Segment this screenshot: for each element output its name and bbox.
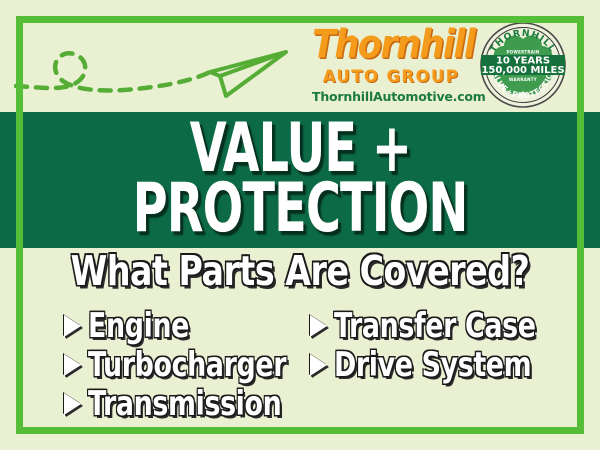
logo-subtitle: AUTO GROUP (312, 69, 470, 86)
covered-parts-list: Engine Turbocharger Transmission Transfe… (0, 306, 600, 424)
part-label: Transfer Case (334, 306, 536, 346)
triangle-bullet-icon (310, 354, 327, 376)
list-item: Transmission (64, 384, 294, 423)
header-region: Thornhill AUTO GROUP ThornhillAutomotive… (0, 0, 600, 112)
triangle-bullet-icon (64, 393, 81, 415)
triangle-bullet-icon (310, 315, 327, 337)
seal-micro-bottom-text: WARRANTY (509, 77, 537, 82)
triangle-bullet-icon (64, 315, 81, 337)
logo-wordmark: Thornhill (312, 26, 470, 65)
triangle-bullet-icon (64, 354, 81, 376)
thornhill-logo: Thornhill AUTO GROUP ThornhillAutomotive… (312, 26, 470, 103)
logo-website-url: ThornhillAutomotive.com (312, 91, 470, 104)
warranty-seal-badge-icon: THORNHILL VALUE+PROTECTION POWERTRAIN 10… (480, 22, 566, 108)
part-label: Engine (88, 306, 189, 346)
dashed-arrow-path-icon (14, 24, 294, 108)
seal-miles-text: 150,000 MILES (481, 65, 564, 76)
seal-micro-top-text: POWERTRAIN (506, 50, 539, 55)
part-label: Transmission (88, 384, 281, 424)
headline-line-2: PROTECTION (133, 179, 468, 241)
list-item: Turbocharger (64, 345, 294, 384)
headline-block: VALUE + PROTECTION (0, 112, 600, 248)
advertisement-banner: Thornhill AUTO GROUP ThornhillAutomotive… (0, 0, 600, 450)
question-heading: What Parts Are Covered? (15, 248, 585, 295)
list-item: Transfer Case (310, 306, 544, 345)
part-label: Turbocharger (88, 345, 286, 385)
list-item: Drive System (310, 345, 544, 384)
parts-column-right: Transfer Case Drive System (310, 306, 544, 384)
parts-column-left: Engine Turbocharger Transmission (64, 306, 294, 423)
part-label: Drive System (334, 345, 531, 385)
list-item: Engine (64, 306, 294, 345)
